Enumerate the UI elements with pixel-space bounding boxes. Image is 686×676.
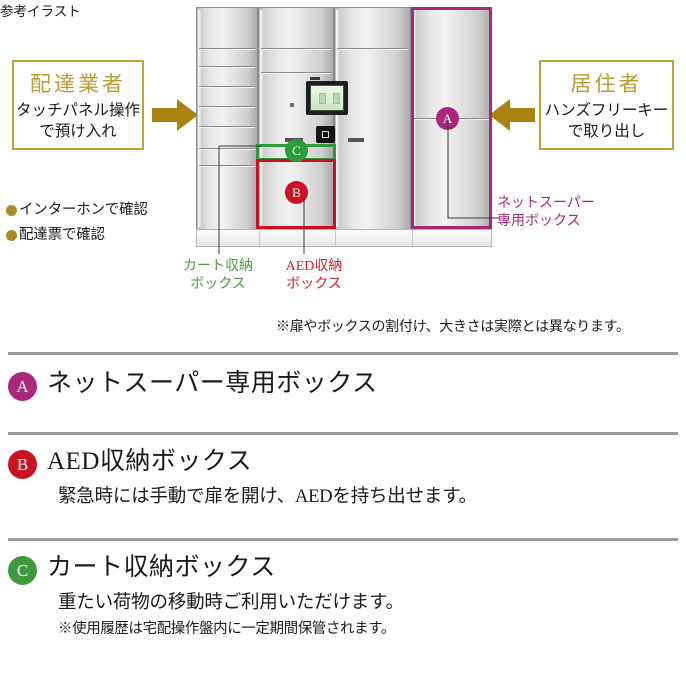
door-divider (199, 66, 255, 67)
callout-net-line1: ネットスーパー (497, 195, 627, 213)
callout-cart-line2: ボックス (172, 276, 264, 294)
legend-b-title: AED収納ボックス (47, 448, 252, 477)
legend-a-head: A ネットスーパー専用ボックス (8, 370, 678, 401)
touchpanel-display[interactable] (310, 85, 344, 111)
callout-net-line2: 専用ボックス (497, 213, 627, 231)
delivery-confirmation-list: インターホンで確認 配達票で確認 (6, 203, 176, 253)
actor-right-subtitle-line2: で取り出し (541, 122, 672, 142)
door-divider (337, 48, 408, 49)
page-root: 配達業者 タッチパネル操作 で預け入れ 居住者 ハンズフリーキー で取り出し イ… (0, 0, 686, 676)
arrow-right-icon (152, 98, 198, 132)
actor-box-delivery-person: 配達業者 タッチパネル操作 で預け入れ (12, 60, 144, 150)
screen-content-block (333, 93, 340, 104)
door-divider (261, 72, 331, 73)
divider (8, 432, 678, 435)
legend-c-title: カート収納ボックス (47, 554, 276, 583)
bullet-dot-icon (6, 205, 17, 216)
signage-strip (348, 138, 364, 142)
list-item: 配達票で確認 (6, 228, 176, 244)
door-divider (261, 48, 331, 49)
locker-column-1 (196, 7, 258, 229)
legend-item-b: B AED収納ボックス 緊急時には手動で扉を開け、AEDを持ち出せます。 (8, 448, 678, 509)
door-divider (199, 148, 255, 149)
actor-left-subtitle-line2: で預け入れ (14, 122, 142, 142)
divider (8, 352, 678, 355)
callout-cart-line1: カート収納 (172, 258, 264, 276)
actor-left-title: 配達業者 (14, 71, 142, 97)
actor-right-subtitle-line1: ハンズフリーキー (541, 101, 672, 121)
callout-aed-line1: AED収納 (268, 258, 360, 276)
legend-b-description: 緊急時には手動で扉を開け、AEDを持ち出せます。 (58, 485, 678, 509)
callout-aed-line2: ボックス (268, 276, 360, 294)
touchpanel-camera-strip (310, 77, 320, 80)
legend-c-note: ※使用履歴は宅配操作盤内に一定期間保管されます。 (58, 620, 678, 639)
arrow-left-icon (489, 98, 535, 132)
locker-cabinet-illustration: A C B (196, 7, 492, 247)
touchpanel-screen[interactable] (306, 81, 348, 115)
legend-a-title: ネットスーパー専用ボックス (47, 370, 378, 399)
diagram-disclaimer-note: ※扉やボックスの割付け、大きさは実際とは異なります。 (276, 316, 630, 336)
marker-b: B (285, 181, 308, 204)
door-divider (199, 86, 255, 87)
legend-item-c: C カート収納ボックス 重たい荷物の移動時ご利用いただけます。 ※使用履歴は宅配… (8, 554, 678, 639)
callout-net-super-box: ネットスーパー 専用ボックス (497, 195, 627, 231)
callout-aed-box: AED収納 ボックス (268, 258, 360, 293)
card-reader[interactable] (316, 126, 335, 143)
delivery-locker-diagram: 配達業者 タッチパネル操作 で預け入れ 居住者 ハンズフリーキー で取り出し イ… (0, 0, 686, 352)
legend-c-head: C カート収納ボックス (8, 554, 678, 585)
legend-badge-b: B (8, 450, 37, 479)
actor-left-subtitle-line1: タッチパネル操作 (14, 101, 142, 121)
bullet-label: インターホンで確認 (19, 203, 148, 219)
indicator-led-icon (290, 103, 294, 107)
door-divider (199, 48, 255, 49)
column-edge-highlight (198, 10, 201, 227)
cabinet-base-plinth (196, 229, 492, 247)
divider (8, 538, 678, 541)
plinth-divider (412, 230, 413, 246)
legend-b-head: B AED収納ボックス (8, 448, 678, 479)
list-item: インターホンで確認 (6, 203, 176, 219)
bullet-dot-icon (6, 230, 17, 241)
marker-c: C (285, 139, 308, 162)
callout-cart-box: カート収納 ボックス (172, 258, 264, 293)
legend-item-a: A ネットスーパー専用ボックス (8, 370, 678, 401)
door-divider (199, 106, 255, 107)
plinth-divider (259, 230, 260, 246)
door-divider (199, 165, 255, 166)
locker-column-3 (334, 7, 411, 229)
legend-badge-a: A (8, 372, 37, 401)
actor-box-resident: 居住者 ハンズフリーキー で取り出し (539, 60, 674, 150)
screen-content-block (319, 93, 326, 104)
legend-c-description: 重たい荷物の移動時ご利用いただけます。 (58, 591, 678, 615)
plinth-divider (335, 230, 336, 246)
legend-badge-c: C (8, 556, 37, 585)
card-reader-icon (322, 131, 329, 138)
column-edge-highlight (336, 10, 339, 227)
bullet-label: 配達票で確認 (19, 228, 105, 244)
door-divider (199, 126, 255, 127)
actor-right-title: 居住者 (541, 71, 672, 97)
marker-a: A (436, 107, 459, 130)
